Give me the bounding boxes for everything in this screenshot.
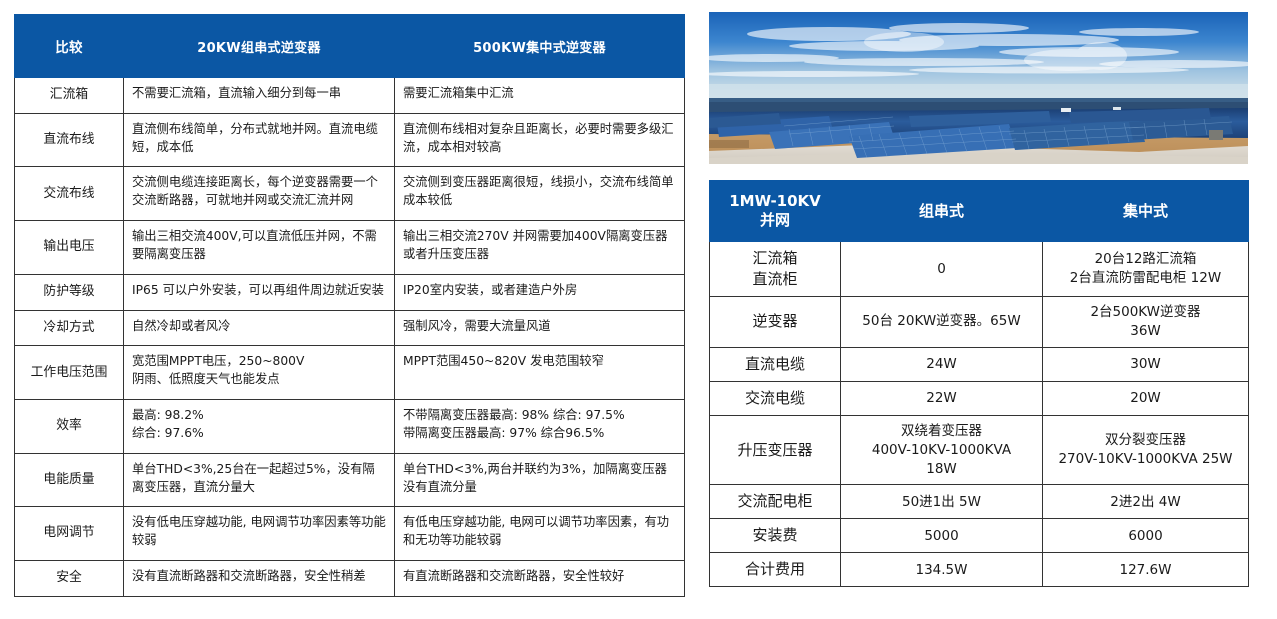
cost-row-label: 升压变压器	[710, 415, 841, 485]
comparison-cell-string-inverter: 单台THD<3%,25台在一起超过5%，没有隔离变压器，直流分量大	[124, 453, 395, 507]
comparison-cell-string-inverter: 交流侧电缆连接距离长，每个逆变器需要一个交流断路器，可就地并网或交流汇流并网	[124, 167, 395, 221]
cost-cell-string-inverter: 22W	[841, 381, 1043, 415]
comparison-row-label: 效率	[15, 400, 124, 454]
table-row: 直流电缆24W30W	[710, 347, 1249, 381]
table-row: 电网调节没有低电压穿越功能, 电网调节功率因素等功能较弱有低电压穿越功能, 电网…	[15, 507, 685, 561]
col-header-criteria: 比较	[15, 15, 124, 78]
table-row: 电能质量单台THD<3%,25台在一起超过5%，没有隔离变压器，直流分量大单台T…	[15, 453, 685, 507]
cost-row-label: 汇流箱 直流柜	[710, 242, 841, 297]
cost-cell-string-inverter: 50台 20KW逆变器。65W	[841, 297, 1043, 348]
solar-farm-photo-graphic	[709, 12, 1248, 164]
comparison-cell-central-inverter: 直流侧布线相对复杂且距离长，必要时需要多级汇流，成本相对较高	[395, 113, 685, 167]
cost-comparison-table-container: 1MW-10KV 并网 组串式 集中式 汇流箱 直流柜020台12路汇流箱 2台…	[709, 180, 1248, 587]
table-row: 合计费用134.5W127.6W	[710, 553, 1249, 587]
comparison-cell-string-inverter: 输出三相交流400V,可以直流低压并网，不需要隔离变压器	[124, 221, 395, 275]
comparison-cell-central-inverter: 交流侧到变压器距离很短，线损小，交流布线简单成本较低	[395, 167, 685, 221]
comparison-cell-central-inverter: MPPT范围450~820V 发电范围较窄	[395, 346, 685, 400]
inverter-comparison-table: 比较 20KW组串式逆变器 500KW集中式逆变器 汇流箱不需要汇流箱，直流输入…	[14, 14, 685, 597]
cost-cell-string-inverter: 双绕着变压器 400V-10KV-1000KVA 18W	[841, 415, 1043, 485]
table-row: 汇流箱不需要汇流箱，直流输入细分到每一串需要汇流箱集中汇流	[15, 78, 685, 114]
cost-col-header-central: 集中式	[1043, 181, 1249, 242]
cost-cell-central-inverter: 2进2出 4W	[1043, 485, 1249, 519]
comparison-row-label: 输出电压	[15, 221, 124, 275]
table-row: 交流配电柜50进1出 5W2进2出 4W	[710, 485, 1249, 519]
table-row: 输出电压输出三相交流400V,可以直流低压并网，不需要隔离变压器输出三相交流27…	[15, 221, 685, 275]
comparison-cell-string-inverter: 直流侧布线简单，分布式就地并网。直流电缆短，成本低	[124, 113, 395, 167]
comparison-cell-string-inverter: 没有直流断路器和交流断路器，安全性稍差	[124, 561, 395, 597]
table-row: 升压变压器双绕着变压器 400V-10KV-1000KVA 18W双分裂变压器 …	[710, 415, 1249, 485]
cost-cell-central-inverter: 30W	[1043, 347, 1249, 381]
cost-cell-central-inverter: 20W	[1043, 381, 1249, 415]
cost-cell-central-inverter: 6000	[1043, 519, 1249, 553]
table-row: 防护等级IP65 可以户外安装，可以再组件周边就近安装IP20室内安装，或者建造…	[15, 274, 685, 310]
cost-row-label: 逆变器	[710, 297, 841, 348]
cost-cell-string-inverter: 0	[841, 242, 1043, 297]
cost-table-header: 1MW-10KV 并网 组串式 集中式	[710, 181, 1249, 242]
comparison-cell-central-inverter: 单台THD<3%,两台并联约为3%，加隔离变压器没有直流分量	[395, 453, 685, 507]
cost-cell-central-inverter: 127.6W	[1043, 553, 1249, 587]
comparison-row-label: 交流布线	[15, 167, 124, 221]
table-row: 安装费50006000	[710, 519, 1249, 553]
col-header-central-inverter: 500KW集中式逆变器	[395, 15, 685, 78]
comparison-row-label: 直流布线	[15, 113, 124, 167]
table-row: 工作电压范围宽范围MPPT电压，250~800V 阴雨、低照度天气也能发点MPP…	[15, 346, 685, 400]
comparison-row-label: 冷却方式	[15, 310, 124, 346]
comparison-row-label: 汇流箱	[15, 78, 124, 114]
cost-row-label: 合计费用	[710, 553, 841, 587]
cost-cell-central-inverter: 2台500KW逆变器 36W	[1043, 297, 1249, 348]
col-header-string-inverter: 20KW组串式逆变器	[124, 15, 395, 78]
solar-farm-photo	[709, 12, 1248, 164]
cost-row-label: 交流电缆	[710, 381, 841, 415]
table-row: 效率最高: 98.2% 综合: 97.6%不带隔离变压器最高: 98% 综合: …	[15, 400, 685, 454]
table-header-row: 比较 20KW组串式逆变器 500KW集中式逆变器	[15, 15, 685, 78]
cost-col-header-string: 组串式	[841, 181, 1043, 242]
comparison-cell-central-inverter: IP20室内安装，或者建造户外房	[395, 274, 685, 310]
cost-row-label: 直流电缆	[710, 347, 841, 381]
cost-table-body: 汇流箱 直流柜020台12路汇流箱 2台直流防雷配电柜 12W逆变器50台 20…	[710, 242, 1249, 587]
inverter-comparison-table-container: 比较 20KW组串式逆变器 500KW集中式逆变器 汇流箱不需要汇流箱，直流输入…	[14, 14, 684, 597]
table-row: 交流布线交流侧电缆连接距离长，每个逆变器需要一个交流断路器，可就地并网或交流汇流…	[15, 167, 685, 221]
table-row: 冷却方式自然冷却或者风冷强制风冷，需要大流量风道	[15, 310, 685, 346]
cost-row-label: 安装费	[710, 519, 841, 553]
comparison-row-label: 电能质量	[15, 453, 124, 507]
cost-cell-string-inverter: 5000	[841, 519, 1043, 553]
comparison-cell-central-inverter: 有直流断路器和交流断路器，安全性较好	[395, 561, 685, 597]
comparison-cell-string-inverter: 没有低电压穿越功能, 电网调节功率因素等功能较弱	[124, 507, 395, 561]
slide-page: 比较 20KW组串式逆变器 500KW集中式逆变器 汇流箱不需要汇流箱，直流输入…	[0, 0, 1277, 619]
comparison-cell-central-inverter: 输出三相交流270V 并网需要加400V隔离变压器或者升压变压器	[395, 221, 685, 275]
comparison-cell-central-inverter: 不带隔离变压器最高: 98% 综合: 97.5% 带隔离变压器最高: 97% 综…	[395, 400, 685, 454]
table-row: 直流布线直流侧布线简单，分布式就地并网。直流电缆短，成本低直流侧布线相对复杂且距…	[15, 113, 685, 167]
table-row: 逆变器50台 20KW逆变器。65W2台500KW逆变器 36W	[710, 297, 1249, 348]
comparison-cell-central-inverter: 强制风冷，需要大流量风道	[395, 310, 685, 346]
cost-table-header-row: 1MW-10KV 并网 组串式 集中式	[710, 181, 1249, 242]
comparison-row-label: 安全	[15, 561, 124, 597]
comparison-row-label: 电网调节	[15, 507, 124, 561]
cost-cell-central-inverter: 双分裂变压器 270V-10KV-1000KVA 25W	[1043, 415, 1249, 485]
comparison-cell-string-inverter: 宽范围MPPT电压，250~800V 阴雨、低照度天气也能发点	[124, 346, 395, 400]
cost-cell-string-inverter: 50进1出 5W	[841, 485, 1043, 519]
cost-comparison-table: 1MW-10KV 并网 组串式 集中式 汇流箱 直流柜020台12路汇流箱 2台…	[709, 180, 1249, 587]
table-row: 安全没有直流断路器和交流断路器，安全性稍差有直流断路器和交流断路器，安全性较好	[15, 561, 685, 597]
comparison-cell-string-inverter: 最高: 98.2% 综合: 97.6%	[124, 400, 395, 454]
table-row: 汇流箱 直流柜020台12路汇流箱 2台直流防雷配电柜 12W	[710, 242, 1249, 297]
comparison-cell-central-inverter: 需要汇流箱集中汇流	[395, 78, 685, 114]
cost-col-header-scope: 1MW-10KV 并网	[710, 181, 841, 242]
cost-row-label: 交流配电柜	[710, 485, 841, 519]
cost-cell-string-inverter: 134.5W	[841, 553, 1043, 587]
comparison-row-label: 工作电压范围	[15, 346, 124, 400]
cost-cell-central-inverter: 20台12路汇流箱 2台直流防雷配电柜 12W	[1043, 242, 1249, 297]
comparison-row-label: 防护等级	[15, 274, 124, 310]
comparison-cell-string-inverter: 自然冷却或者风冷	[124, 310, 395, 346]
comparison-cell-string-inverter: IP65 可以户外安装，可以再组件周边就近安装	[124, 274, 395, 310]
comparison-cell-string-inverter: 不需要汇流箱，直流输入细分到每一串	[124, 78, 395, 114]
table-row: 交流电缆22W20W	[710, 381, 1249, 415]
cost-cell-string-inverter: 24W	[841, 347, 1043, 381]
comparison-cell-central-inverter: 有低电压穿越功能, 电网可以调节功率因素，有功和无功等功能较弱	[395, 507, 685, 561]
comparison-table-body: 汇流箱不需要汇流箱，直流输入细分到每一串需要汇流箱集中汇流直流布线直流侧布线简单…	[15, 78, 685, 597]
comparison-table-header: 比较 20KW组串式逆变器 500KW集中式逆变器	[15, 15, 685, 78]
